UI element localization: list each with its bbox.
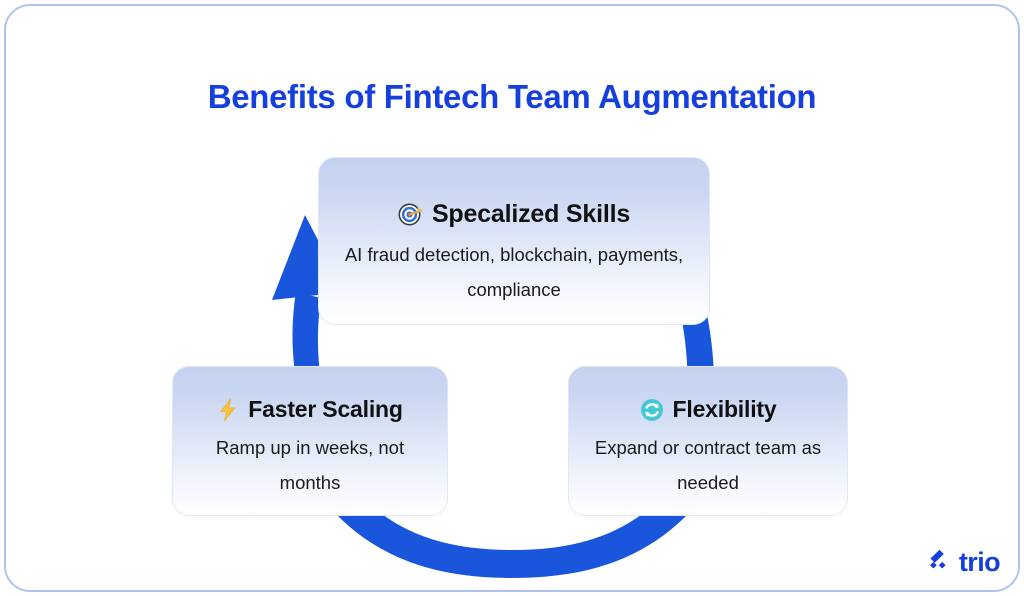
refresh-arrows-icon	[640, 398, 664, 422]
benefit-card-heading-row: Flexibility	[569, 396, 847, 423]
benefit-card-description: Ramp up in weeks, not months	[173, 430, 447, 500]
benefit-card-faster-scaling[interactable]: Faster Scaling Ramp up in weeks, not mon…	[172, 366, 448, 516]
benefit-card-heading: Flexibility	[673, 396, 777, 423]
benefit-card-heading: Specalized Skills	[432, 200, 630, 229]
benefit-card-description: AI fraud detection, blockchain, payments…	[319, 237, 709, 307]
benefit-card-description: Expand or contract team as needed	[569, 430, 847, 500]
benefit-card-heading-row: Specalized Skills	[319, 200, 709, 229]
benefit-card-heading-row: Faster Scaling	[173, 396, 447, 423]
benefit-card-flexibility[interactable]: Flexibility Expand or contract team as n…	[568, 366, 848, 516]
lightning-bolt-icon	[217, 398, 239, 422]
target-icon	[398, 202, 423, 227]
trio-logo-wordmark: trio	[959, 549, 1000, 576]
benefit-card-specialized-skills[interactable]: Specalized Skills AI fraud detection, bl…	[318, 157, 710, 325]
benefit-card-heading: Faster Scaling	[248, 396, 402, 423]
infographic-canvas: Benefits of Fintech Team Augmentation	[0, 0, 1024, 596]
trio-logo: trio	[928, 549, 1000, 576]
trio-logo-mark-icon	[928, 549, 952, 576]
